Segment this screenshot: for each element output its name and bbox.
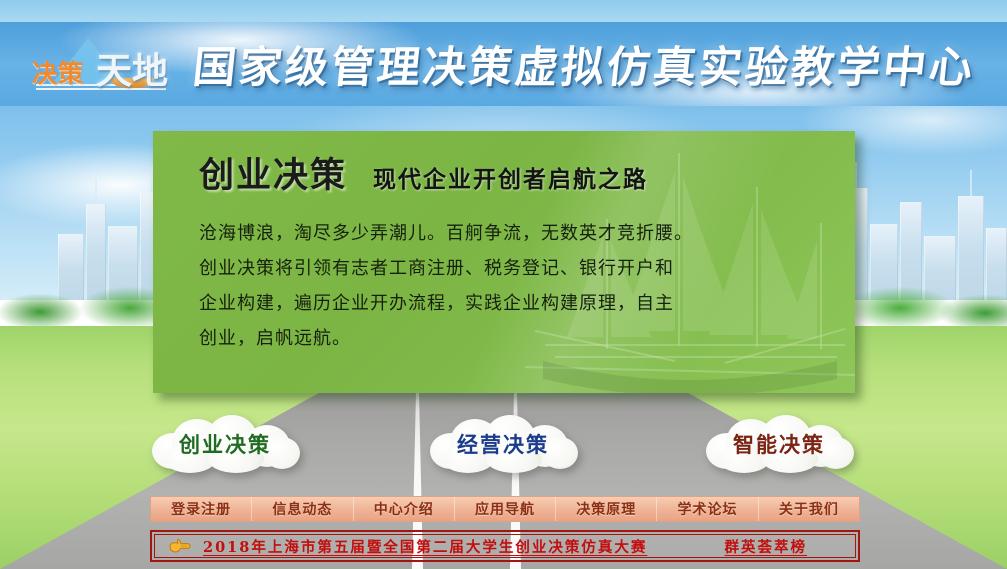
nav-item-news[interactable]: 信息动态 (252, 497, 353, 521)
pointing-hand-icon (169, 538, 191, 554)
panel-subtitle: 现代企业开创者启航之路 (373, 160, 648, 194)
panel-paragraph-line: 企业构建，遍历企业开办流程，实践企业构建原理，自主 (199, 286, 825, 321)
content-panel: 创业决策 现代企业开创者启航之路 沧海博浪，淘尽多少弄潮儿。百舸争流，无数英才竞… (153, 131, 855, 393)
cloud-button-label: 经营决策 (457, 429, 549, 459)
nav-item-about-center[interactable]: 中心介绍 (354, 497, 455, 521)
cloud-button-chuangye[interactable]: 创业决策 (146, 415, 304, 473)
logo-text-primary: 决策 (32, 54, 84, 90)
announcement-banner: 2018年上海市第五届暨全国第二届大学生创业决策仿真大赛 群英荟萃榜 (150, 530, 860, 562)
banner-primary-link[interactable]: 2018年上海市第五届暨全国第二届大学生创业决策仿真大赛 (203, 536, 647, 557)
nav-item-principles[interactable]: 决策原理 (556, 497, 657, 521)
panel-paragraph-line: 创业，启帆远航。 (199, 321, 825, 356)
site-header: 决策 天地 国家级管理决策虚拟仿真实验教学中心 (0, 24, 1007, 104)
panel-title: 创业决策 (199, 147, 347, 198)
nav-item-login[interactable]: 登录注册 (151, 497, 252, 521)
banner-secondary-link[interactable]: 群英荟萃榜 (725, 536, 808, 557)
cloud-button-label: 创业决策 (179, 429, 271, 459)
panel-body: 沧海博浪，淘尽多少弄潮儿。百舸争流，无数英才竞折腰。 创业决策将引领有志者工商注… (199, 216, 825, 356)
top-sky-strip (0, 0, 1007, 22)
nav-item-about-us[interactable]: 关于我们 (759, 497, 859, 521)
logo-text-secondary: 天地 (96, 42, 168, 94)
panel-paragraph-line: 创业决策将引领有志者工商注册、税务登记、银行开户和 (199, 251, 825, 286)
cloud-button-zhineng[interactable]: 智能决策 (700, 415, 858, 473)
cloud-button-jingying[interactable]: 经营决策 (424, 415, 582, 473)
cloud-button-group: 创业决策 经营决策 智能 (0, 415, 1007, 477)
nav-item-forum[interactable]: 学术论坛 (657, 497, 758, 521)
main-navigation: 登录注册 信息动态 中心介绍 应用导航 决策原理 学术论坛 关于我们 (150, 496, 860, 522)
site-logo[interactable]: 决策 天地 (26, 34, 176, 94)
announcement-banner-inner: 2018年上海市第五届暨全国第二届大学生创业决策仿真大赛 群英荟萃榜 (154, 534, 856, 558)
panel-heading-row: 创业决策 现代企业开创者启航之路 (199, 147, 825, 198)
panel-paragraph-line: 沧海博浪，淘尽多少弄潮儿。百舸争流，无数英才竞折腰。 (199, 216, 825, 251)
cloud-button-label: 智能决策 (733, 429, 825, 459)
page-root: 决策 天地 国家级管理决策虚拟仿真实验教学中心 (0, 0, 1007, 569)
nav-item-app-guide[interactable]: 应用导航 (455, 497, 556, 521)
panel-content: 创业决策 现代企业开创者启航之路 沧海博浪，淘尽多少弄潮儿。百舸争流，无数英才竞… (153, 131, 855, 356)
page-title: 国家级管理决策虚拟仿真实验教学中心 (173, 33, 1007, 95)
